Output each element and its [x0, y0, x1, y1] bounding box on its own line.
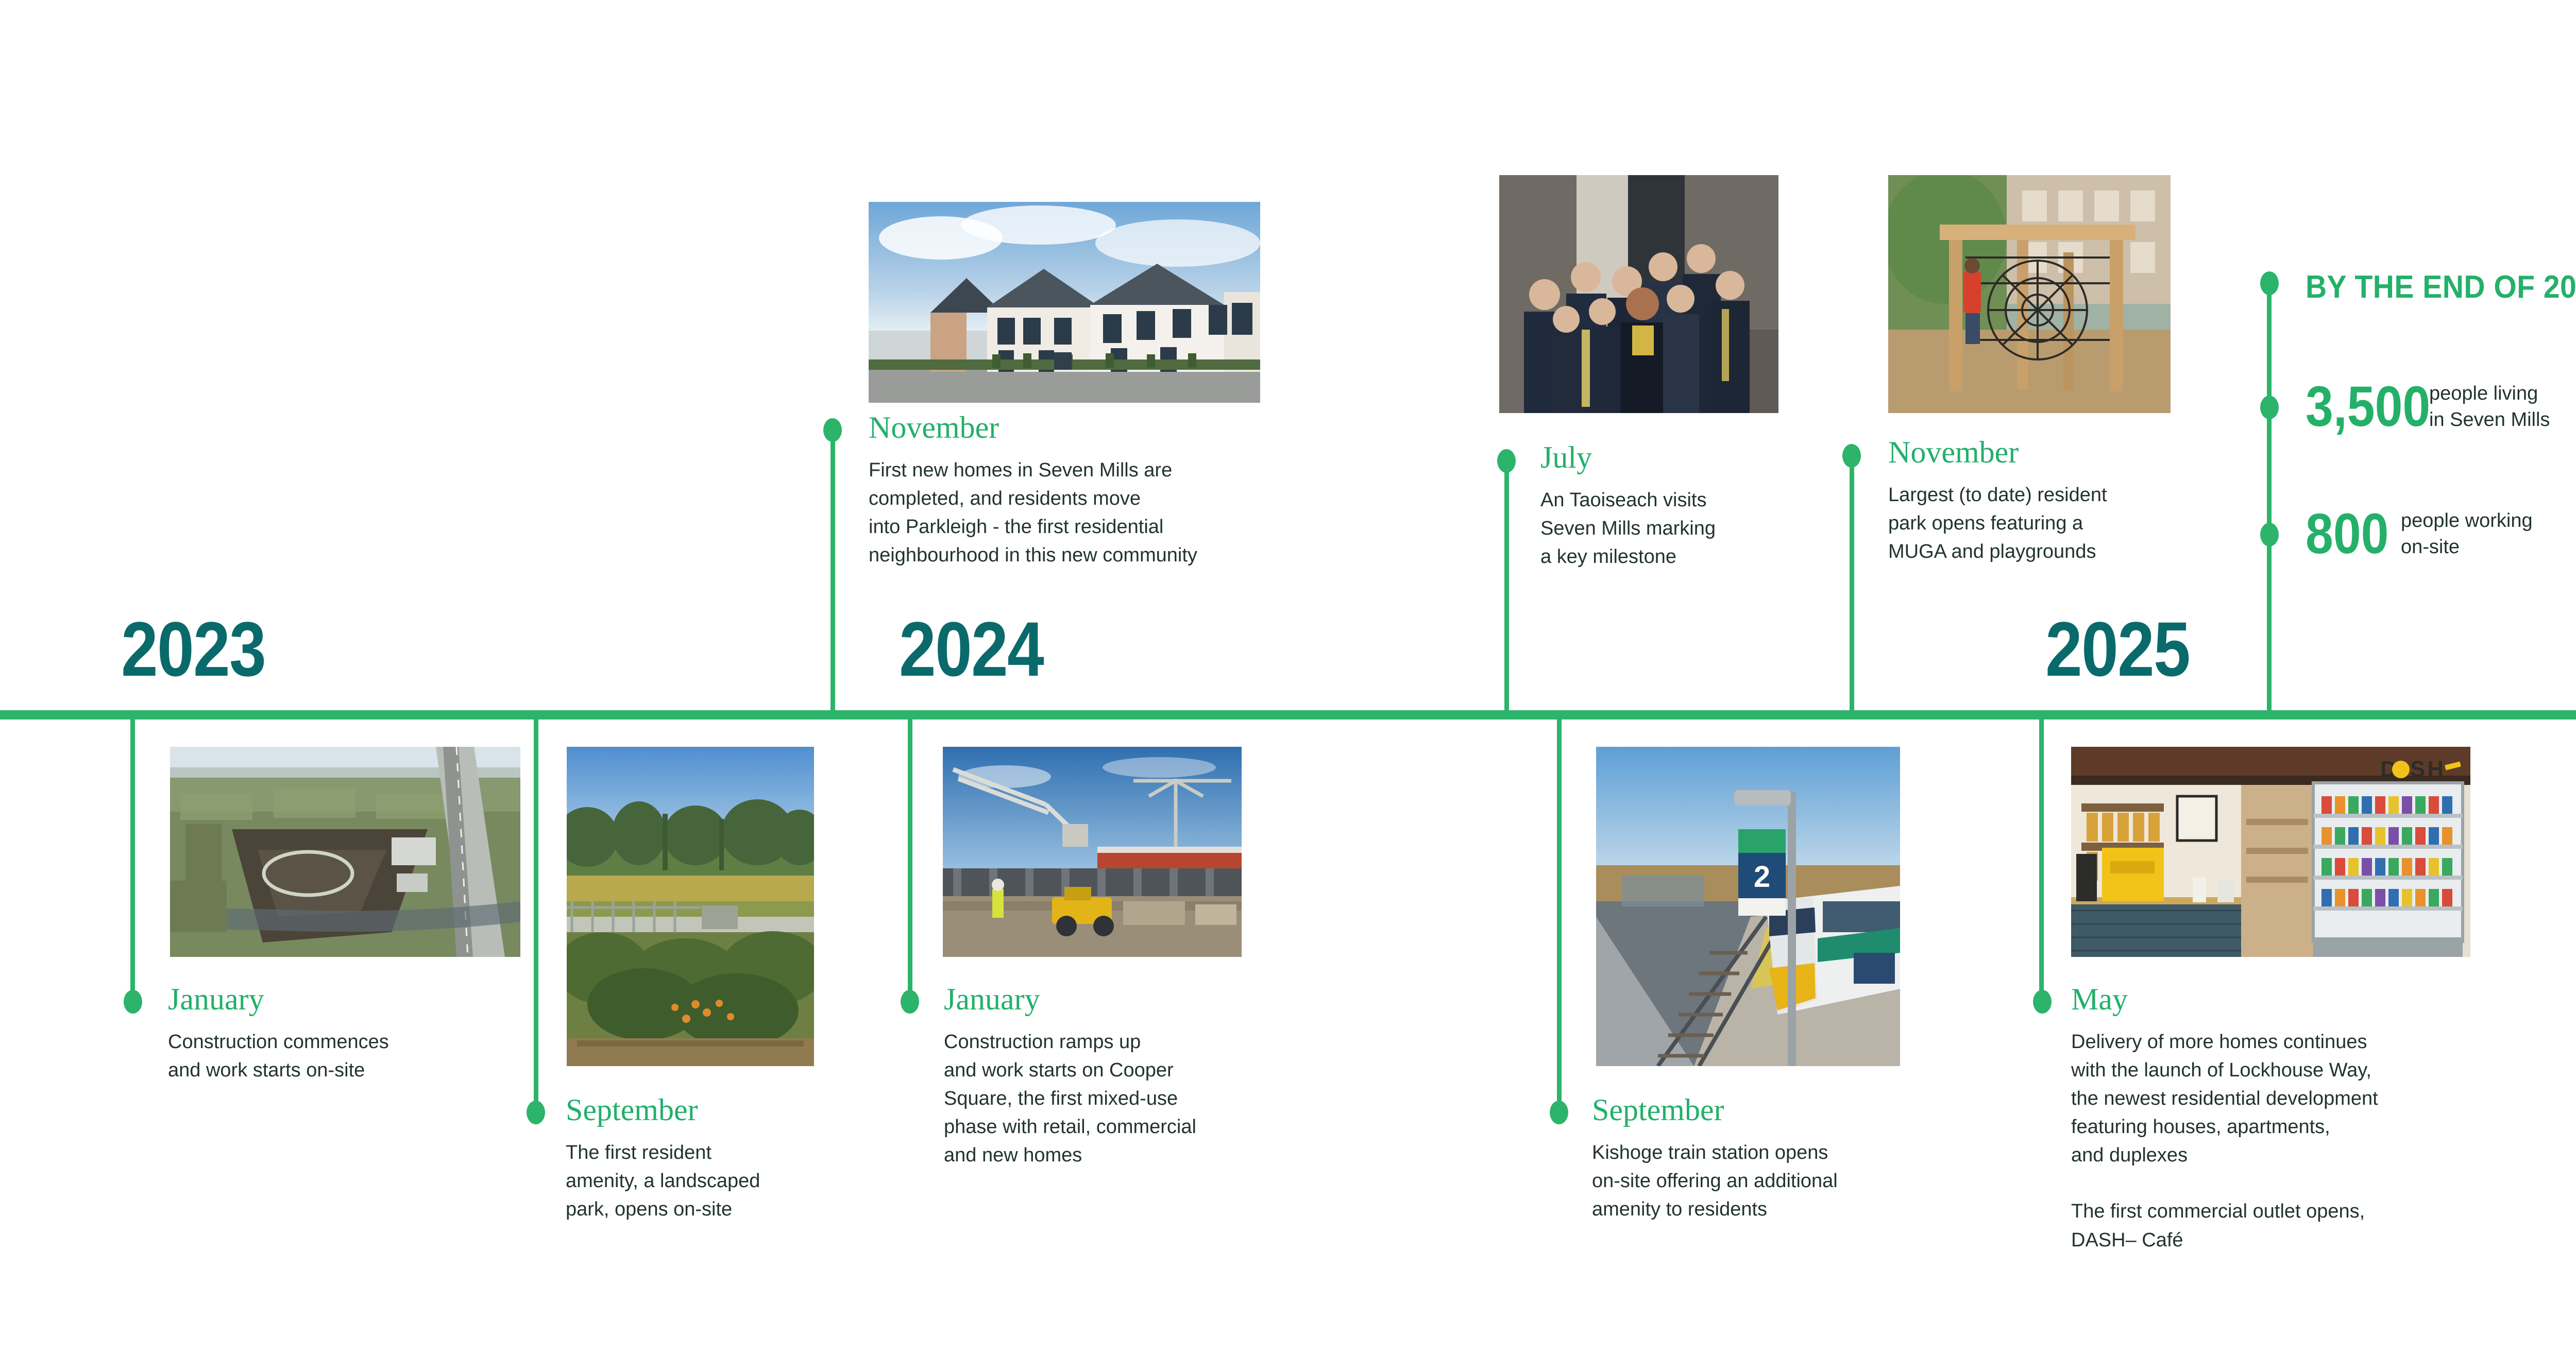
timeline-spine — [0, 710, 2576, 719]
stat-label: people living in Seven Mills — [2429, 381, 2550, 434]
year-label-2025: 2025 — [2045, 610, 2190, 688]
timeline-dot-stat-1[interactable] — [2260, 396, 2279, 419]
milestone-body-text: Construction ramps up and work starts on… — [944, 1028, 1274, 1170]
milestone-july-2025: July An Taoiseach visits Seven Mills mar… — [1540, 442, 1829, 571]
milestone-month-label: September — [1592, 1094, 1911, 1125]
stat-number: 3,500 — [2306, 379, 2410, 435]
connector-stem-may-2025 — [2039, 716, 2044, 1004]
connector-stem-nov-2024 — [831, 433, 835, 716]
milestone-month-label: September — [566, 1094, 875, 1125]
timeline-dot-sep-2025[interactable] — [1550, 1101, 1568, 1124]
connector-stem-sep-2025 — [1557, 716, 1562, 1118]
timeline-dot-july-2025[interactable] — [1497, 449, 1516, 473]
milestone-november-2025: November Largest (to date) resident park… — [1888, 437, 2177, 566]
timeline-dot-jan-2023[interactable] — [124, 990, 142, 1014]
connector-stem-stats — [2267, 288, 2272, 716]
stat-label: people working on-site — [2401, 508, 2533, 561]
milestone-month-label: July — [1540, 442, 1829, 473]
timeline-dot-stat-2[interactable] — [2260, 523, 2279, 546]
stat-item-residents: 3,500 people living in Seven Mills — [2306, 379, 2550, 435]
photo-kishoge-train-station: 2 — [1596, 747, 1900, 1066]
timeline-dot-sep-2023[interactable] — [527, 1101, 545, 1124]
connector-stem-nov-2025 — [1850, 458, 1854, 716]
svg-text:SH: SH — [2410, 757, 2446, 782]
milestone-november-2024: November First new homes in Seven Mills … — [869, 412, 1276, 570]
milestone-body-text-secondary: The first commercial outlet opens, DASH–… — [2071, 1197, 2473, 1254]
stats-panel-title: BY THE END OF 2025 — [2306, 269, 2576, 305]
milestone-body-text: Largest (to date) resident park opens fe… — [1888, 481, 2177, 566]
photo-cooper-square-construction — [943, 747, 1242, 957]
milestone-september-2025: September Kishoge train station opens on… — [1592, 1094, 1911, 1224]
milestone-may-2025: May Delivery of more homes continues wit… — [2071, 984, 2473, 1255]
connector-stem-jan-2023 — [130, 716, 135, 1004]
timeline-dot-nov-2024[interactable] — [823, 418, 842, 442]
year-label-2024: 2024 — [899, 610, 1043, 688]
photo-playground — [1888, 175, 2171, 413]
timeline-infographic: 2023 2024 2025 — [0, 0, 2576, 1371]
milestone-body-text: Construction commences and work starts o… — [168, 1028, 498, 1085]
milestone-body-text: An Taoiseach visits Seven Mills marking … — [1540, 486, 1829, 571]
timeline-dot-stats-title[interactable] — [2260, 271, 2279, 295]
photo-taoiseach-group — [1499, 175, 1778, 413]
connector-stem-sep-2023 — [534, 716, 538, 1118]
milestone-month-label: January — [168, 984, 498, 1015]
stat-number: 800 — [2306, 506, 2385, 562]
photo-new-homes-parkleigh — [869, 202, 1260, 403]
milestone-body-text: Kishoge train station opens on-site offe… — [1592, 1139, 1911, 1224]
milestone-september-2023: September The first resident amenity, a … — [566, 1094, 875, 1224]
milestone-month-label: May — [2071, 984, 2473, 1015]
connector-stem-july-2025 — [1504, 464, 1509, 716]
milestone-month-label: November — [1888, 437, 2177, 468]
milestone-body-text: The first resident amenity, a landscaped… — [566, 1139, 875, 1224]
milestone-month-label: November — [869, 412, 1276, 443]
milestone-january-2023: January Construction commences and work … — [168, 984, 498, 1085]
timeline-dot-may-2025[interactable] — [2033, 990, 2052, 1014]
year-label-2023: 2023 — [121, 610, 265, 688]
milestone-body-text: Delivery of more homes continues with th… — [2071, 1028, 2473, 1170]
connector-stem-jan-2024 — [908, 716, 912, 1004]
photo-dash-cafe: D SH — [2071, 747, 2470, 957]
stat-item-workers: 800 people working on-site — [2306, 506, 2533, 562]
photo-aerial-site — [170, 747, 520, 957]
timeline-dot-nov-2025[interactable] — [1842, 444, 1861, 468]
milestone-body-text: First new homes in Seven Mills are compl… — [869, 456, 1276, 570]
svg-text:2: 2 — [1754, 860, 1770, 894]
milestone-january-2024: January Construction ramps up and work s… — [944, 984, 1274, 1170]
milestone-month-label: January — [944, 984, 1274, 1015]
photo-landscaped-park — [567, 747, 814, 1066]
timeline-dot-jan-2024[interactable] — [901, 990, 919, 1014]
